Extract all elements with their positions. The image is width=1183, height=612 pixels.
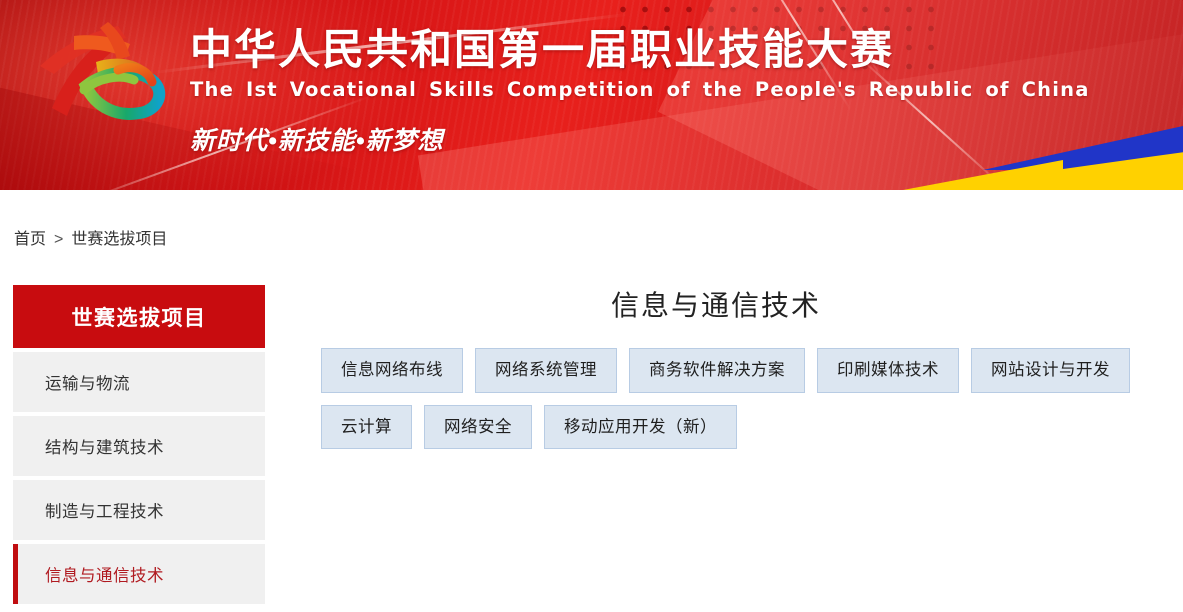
chip-web-technologies[interactable]: 网站设计与开发 — [971, 348, 1130, 393]
chip-cyber-security[interactable]: 网络安全 — [424, 405, 532, 450]
sidebar-item-information-communication[interactable]: 信息与通信技术 — [13, 544, 265, 604]
breadcrumb-separator: > — [54, 231, 63, 248]
chip-it-software-solutions-for-business[interactable]: 商务软件解决方案 — [629, 348, 805, 393]
chip-mobile-application-development[interactable]: 移动应用开发（新） — [544, 405, 737, 450]
banner-title-en: The Ist Vocational Skills Competition of… — [190, 76, 1170, 104]
sidebar-item-transport-logistics[interactable]: 运输与物流 — [13, 352, 265, 412]
sidebar-item-manufacturing-engineering[interactable]: 制造与工程技术 — [13, 480, 265, 540]
sidebar-item-label: 信息与通信技术 — [13, 562, 164, 586]
breadcrumb-current: 世赛选拔项目 — [71, 231, 167, 248]
sidebar-header: 世赛选拔项目 — [13, 285, 265, 348]
sidebar-item-construction-building[interactable]: 结构与建筑技术 — [13, 416, 265, 476]
skill-chip-list: 信息网络布线 网络系统管理 商务软件解决方案 印刷媒体技术 网站设计与开发 云计… — [300, 348, 1170, 449]
main-panel: 信息与通信技术 信息网络布线 网络系统管理 商务软件解决方案 印刷媒体技术 网站… — [300, 266, 1170, 449]
chip-information-network-cabling[interactable]: 信息网络布线 — [321, 348, 463, 393]
chip-print-media-technology[interactable]: 印刷媒体技术 — [817, 348, 959, 393]
sidebar-item-label: 运输与物流 — [13, 370, 130, 394]
sidebar-item-label: 结构与建筑技术 — [13, 434, 164, 458]
sidebar-nav: 世赛选拔项目 运输与物流 结构与建筑技术 制造与工程技术 信息与通信技术 — [13, 285, 265, 604]
chip-cloud-computing[interactable]: 云计算 — [321, 405, 412, 450]
site-banner: 中华人民共和国第一届职业技能大赛 The Ist Vocational Skil… — [0, 0, 1183, 190]
sidebar-item-label: 制造与工程技术 — [13, 498, 164, 522]
page-content: 世赛选拔项目 运输与物流 结构与建筑技术 制造与工程技术 信息与通信技术 信息与… — [0, 266, 1183, 612]
breadcrumb-home-link[interactable]: 首页 — [14, 231, 46, 248]
banner-text-block: 中华人民共和国第一届职业技能大赛 The Ist Vocational Skil… — [190, 26, 1170, 157]
banner-slogan: 新时代•新技能•新梦想 — [190, 121, 1170, 157]
chip-network-system-administration[interactable]: 网络系统管理 — [475, 348, 617, 393]
skills-competition-emblem-icon[interactable] — [22, 16, 174, 128]
banner-title-cn: 中华人民共和国第一届职业技能大赛 — [190, 26, 1170, 74]
page-title: 信息与通信技术 — [300, 286, 1170, 326]
breadcrumb: 首页>世赛选拔项目 — [14, 228, 167, 252]
